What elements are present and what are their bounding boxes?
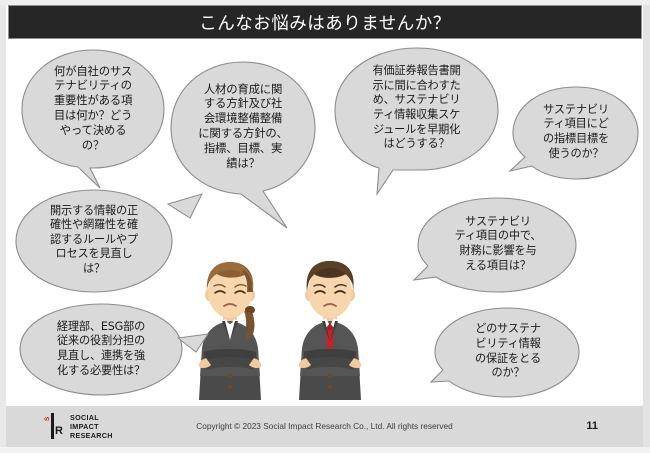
page-number: 11: [586, 420, 598, 432]
speech-bubble-department-roles: 経理部、ESG部の 従来の役割分担の 見直し、連携を強 化する必要性は？: [18, 302, 184, 398]
speech-bubble-which-kpi: サステナビリ ティ項目にど の指標目標を 使うのか？: [508, 85, 640, 181]
slide-title-bar: こんなお悩みはありませんか？: [8, 5, 642, 39]
speech-bubble-materiality-items: 何が自社のサス テナビリティの 重要性がある項 目は何か？どう やって決める の…: [20, 48, 166, 170]
copyright-text: Copyright © 2023 Social Impact Research …: [6, 421, 643, 431]
speech-bubble-accuracy-process: 開示する情報の正 確性や網羅性を確 認するルールやプ ロセスを見直し は？: [14, 188, 174, 294]
slide-frame-right: [643, 0, 650, 453]
speech-bubble-tail-department: [176, 330, 212, 356]
speech-bubble-text: 人材の育成に関 する方針及び社 会環境整備整備 に関する方針の、 指標、目標、実…: [169, 60, 317, 192]
speech-bubble-text: 有価証券報告書開 示に間に合わすた め、サステナビリ ティ情報収集スケ ジュール…: [333, 46, 500, 170]
speech-bubble-tail-accuracy: [166, 192, 206, 222]
slide-body: 何が自社のサス テナビリティの 重要性がある項 目は何か？どう やって決める の…: [6, 40, 643, 407]
slide-title: こんなお悩みはありませんか？: [199, 10, 450, 35]
presentation-slide: こんなお悩みはありませんか？: [0, 0, 650, 453]
illustration-two-business-people: [184, 252, 384, 407]
speech-bubble-disclosure-schedule: 有価証券報告書開 示に間に合わすた め、サステナビリ ティ情報収集スケ ジュール…: [333, 46, 500, 174]
speech-bubble-financial-impact: サステナビリ ティ項目の中で、 財務に影響を与 える項目は？: [412, 196, 578, 296]
speech-bubble-text: サステナビリ ティ項目の中で、 財務に影響を与 える項目は？: [412, 196, 578, 292]
speech-bubble-human-capital: 人材の育成に関 する方針及び社 会環境整備整備 に関する方針の、 指標、目標、実…: [169, 60, 317, 190]
speech-bubble-text: 経理部、ESG部の 従来の役割分担の 見直し、連携を強 化する必要性は？: [18, 302, 184, 396]
speech-bubble-text: サステナビリ ティ項目にど の指標目標を 使うのか？: [508, 85, 640, 179]
speech-bubble-text: どのサステナ ビリティ情報 の保証をとる のか？: [429, 306, 581, 397]
slide-frame-bottom: [0, 447, 650, 453]
person-right-businessman: [299, 261, 361, 400]
speech-bubble-text: 何が自社のサス テナビリティの 重要性がある項 目は何か？どう やって決める の…: [20, 48, 166, 168]
speech-bubble-text: 開示する情報の正 確性や網羅性を確 認するルールやプ ロセスを見直し は？: [14, 188, 174, 292]
slide-footer: S R SOCIAL IMPACT RESEARCH Copyright © 2…: [6, 406, 643, 447]
speech-bubble-assurance: どのサステナ ビリティ情報 の保証をとる のか？: [429, 306, 581, 400]
